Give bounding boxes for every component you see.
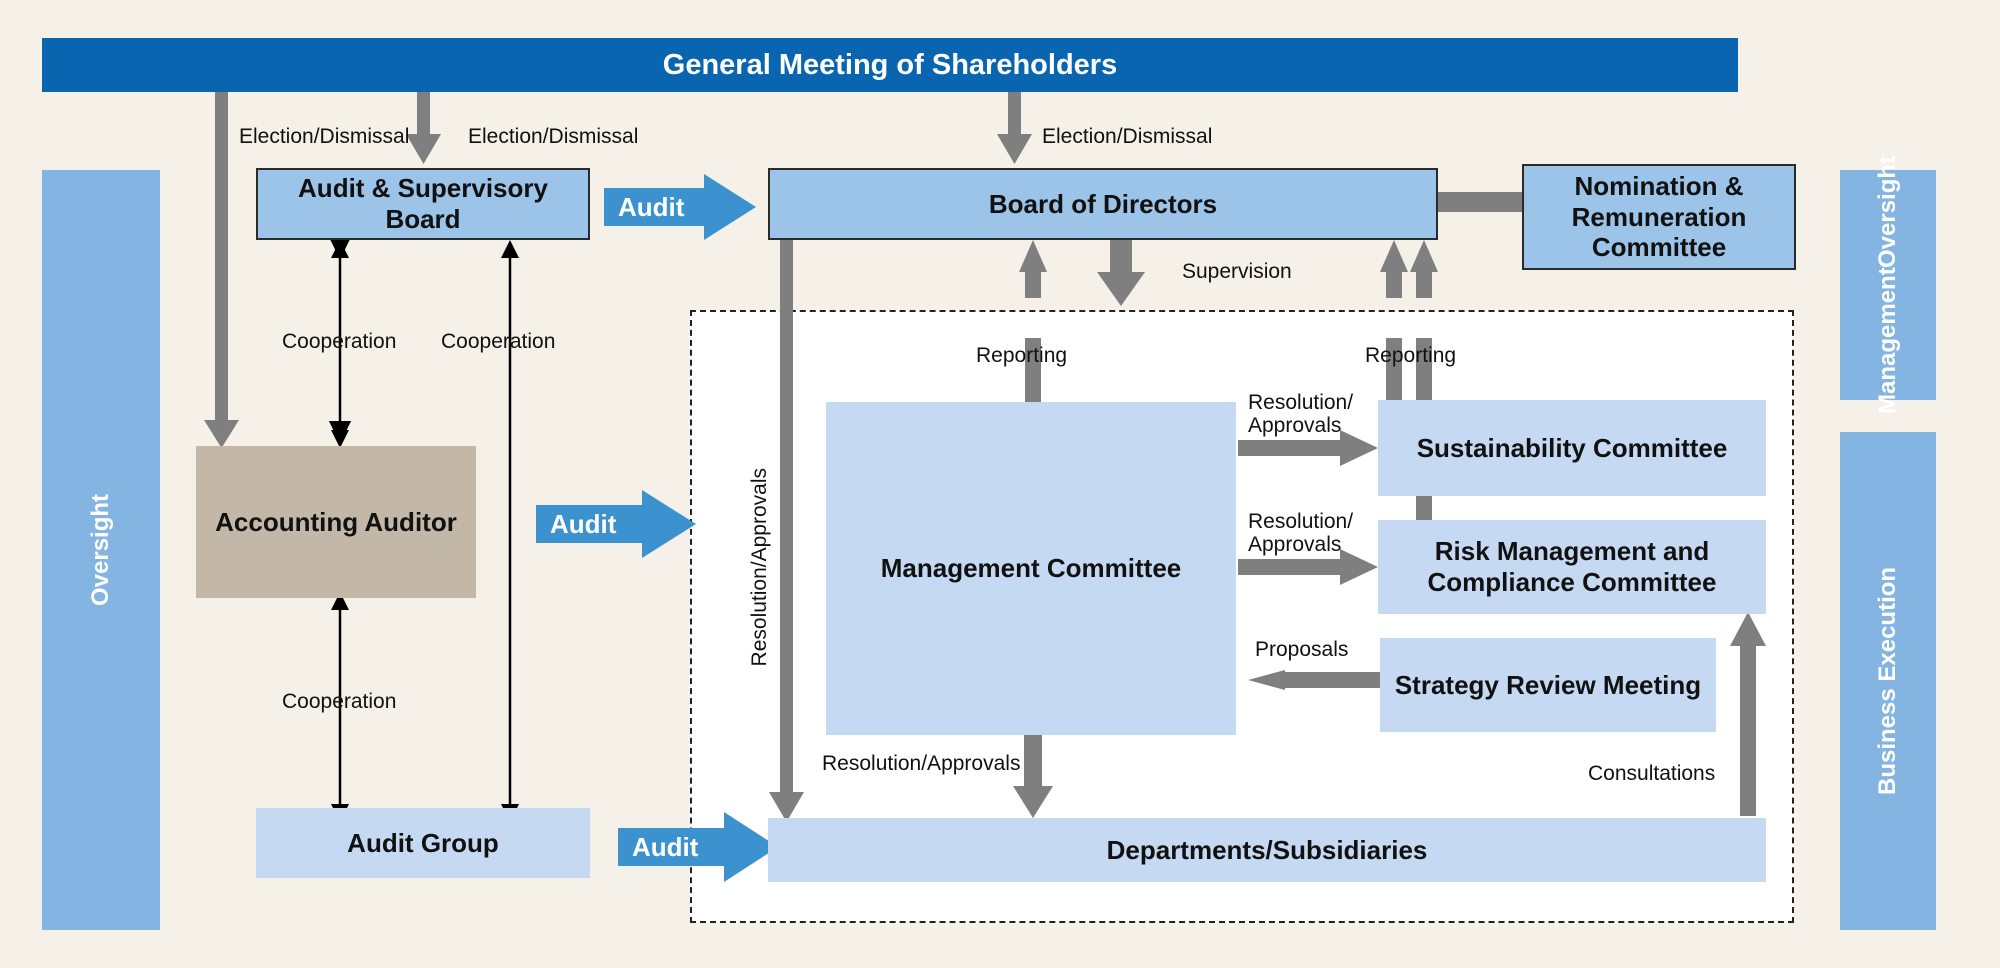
label-consultations: Consultations [1588,762,1715,786]
label-election-dismissal-2: Election/Dismissal [468,125,638,149]
band-business-execution: Business Execution [1840,432,1936,930]
arrow-supervision [1097,238,1145,306]
label-election-dismissal-1: Election/Dismissal [239,125,409,149]
board-of-directors-box: Board of Directors [768,168,1438,240]
band-oversight-label: Oversight [86,494,116,606]
audit-arrow-to-management: Audit [536,490,696,558]
label-election-dismissal-3: Election/Dismissal [1042,125,1212,149]
sustainability-committee-label: Sustainability Committee [1417,433,1728,464]
audit-arrow-to-departments: Audit [618,812,778,882]
audit-arrow-to-board: Audit [604,174,756,240]
audit-chevron-icon [618,812,778,882]
arrow-election-dismissal-accounting-auditor [204,92,239,448]
sustainability-committee-box: Sustainability Committee [1378,400,1766,496]
audit-group-label: Audit Group [347,828,499,859]
strategy-review-meeting-label: Strategy Review Meeting [1395,670,1701,701]
management-committee-label: Management Committee [881,553,1182,584]
departments-subsidiaries-box: Departments/Subsidiaries [768,818,1766,882]
risk-management-compliance-committee-box: Risk Management and Compliance Committee [1378,520,1766,614]
general-meeting-label: General Meeting of Shareholders [663,48,1117,82]
label-proposals: Proposals [1255,638,1348,662]
band-management-oversight-label-l2: Oversight [1873,156,1903,268]
audit-group-box: Audit Group [256,808,590,878]
audit-chevron-icon [536,490,696,558]
label-resolution-approvals-risk-l1: Resolution/ [1248,510,1353,534]
label-resolution-approvals-sustainability-l1: Resolution/ [1248,391,1353,415]
arrow-election-dismissal-board-of-directors [997,92,1032,164]
risk-management-compliance-committee-label: Risk Management and Compliance Committee [1390,536,1754,597]
band-oversight: Oversight [42,170,160,930]
audit-supervisory-board-label: Audit & Supervisory Board [272,173,574,234]
accounting-auditor-box: Accounting Auditor [196,446,476,598]
label-reporting-right: Reporting [1365,344,1456,368]
nomination-remuneration-committee-box: Nomination & Remuneration Committee [1522,164,1796,270]
general-meeting-of-shareholders-box: General Meeting of Shareholders [42,38,1738,92]
band-business-execution-label: Business Execution [1873,567,1903,795]
label-resolution-approvals-bottom: Resolution/Approvals [822,752,1020,776]
management-committee-box: Management Committee [826,402,1236,735]
label-resolution-approvals-risk-l2: Approvals [1248,533,1341,557]
label-cooperation-3: Cooperation [282,690,396,714]
strategy-review-meeting-box: Strategy Review Meeting [1380,638,1716,732]
connector-board-nomination [1436,192,1530,212]
label-cooperation-2: Cooperation [441,330,555,354]
band-management-oversight-label-l1: Management [1873,268,1903,415]
audit-chevron-icon [604,174,756,240]
label-resolution-approvals-sustainability-l2: Approvals [1248,414,1341,438]
label-cooperation-1: Cooperation [282,330,396,354]
departments-subsidiaries-label: Departments/Subsidiaries [1107,835,1428,866]
arrow-election-dismissal-audit-supervisory-board [406,92,441,164]
accounting-auditor-label: Accounting Auditor [215,507,457,538]
governance-diagram: General Meeting of Shareholders Oversigh… [0,0,2000,968]
arrow-cooperation-asb-audit-group [501,240,519,822]
audit-supervisory-board-box: Audit & Supervisory Board [256,168,590,240]
label-resolution-approvals-vertical: Resolution/Approvals [748,468,772,666]
label-reporting-left: Reporting [976,344,1067,368]
nomination-remuneration-committee-label: Nomination & Remuneration Committee [1536,171,1782,263]
board-of-directors-label: Board of Directors [989,189,1217,220]
band-management-oversight: Management Oversight [1840,170,1936,400]
label-supervision: Supervision [1182,260,1292,284]
